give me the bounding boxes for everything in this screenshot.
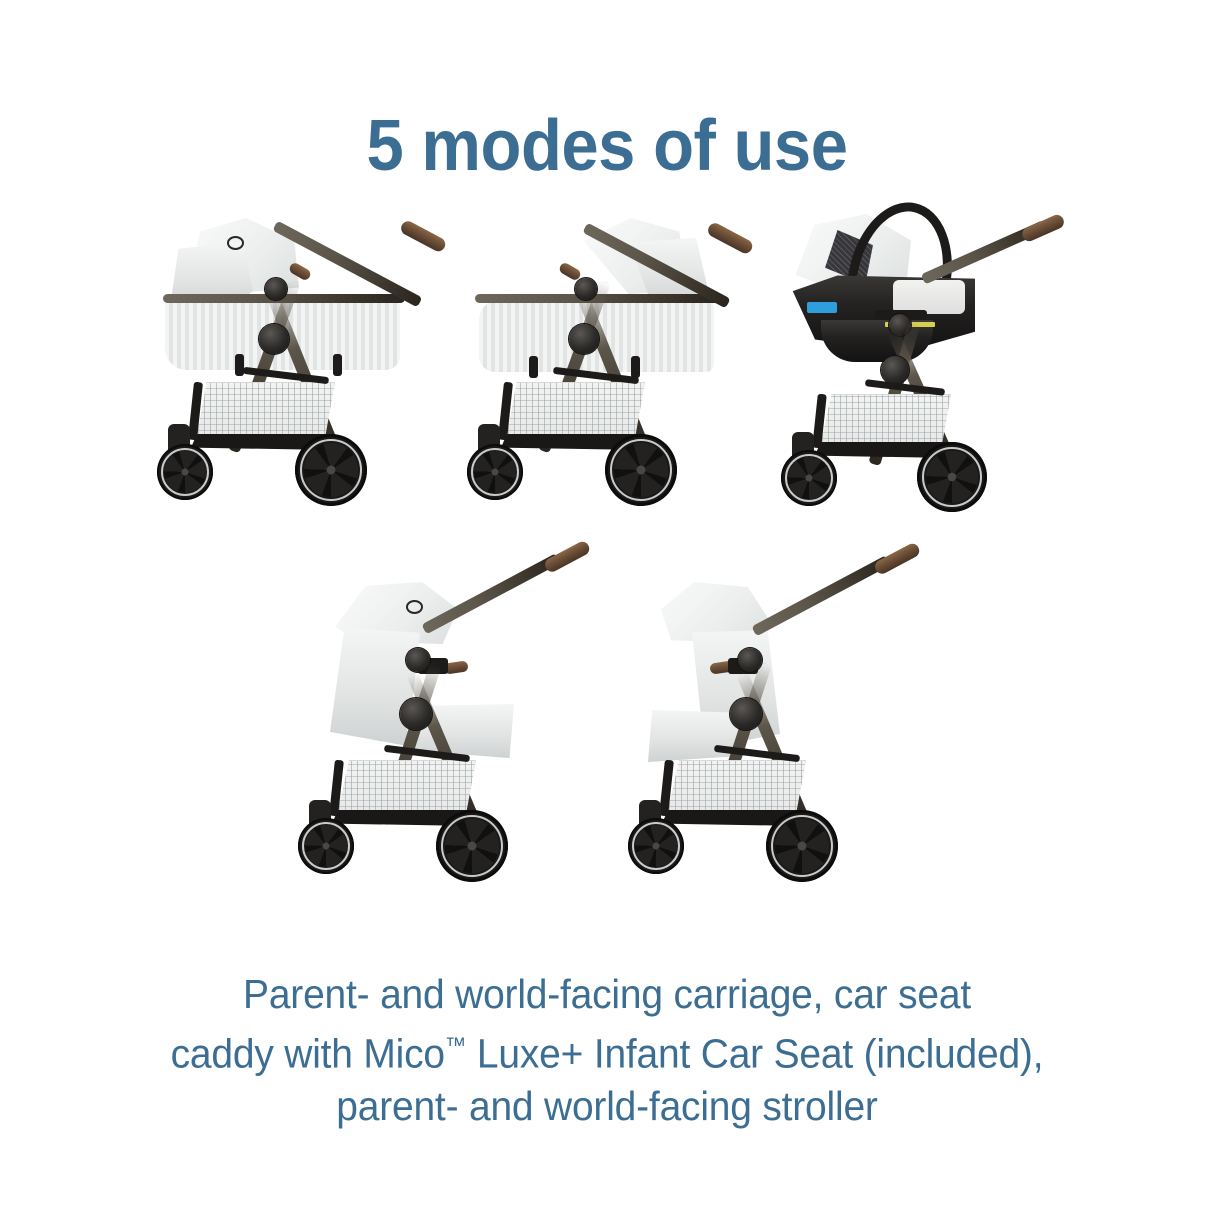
rear-axle	[865, 379, 945, 396]
frame-hinge	[881, 356, 909, 384]
front-wheel	[467, 444, 523, 500]
stroller-illustration-5	[614, 564, 924, 920]
mode-image-world-facing-carriage[interactable]	[457, 196, 757, 552]
mode-image-parent-facing-stroller[interactable]	[290, 564, 600, 920]
frame-joint	[575, 278, 597, 300]
frame-hinge	[569, 324, 599, 354]
bassinet-clip	[333, 354, 342, 376]
car-seat-insert-pad	[893, 280, 965, 314]
frame-hinge	[259, 324, 289, 354]
page-title: 5 modes of use	[42, 110, 1171, 182]
frame-joint	[265, 278, 287, 300]
front-wheel	[781, 450, 837, 506]
bassinet-clip	[529, 356, 538, 378]
bassinet-clip	[631, 356, 640, 378]
stroller-illustration-4	[290, 564, 600, 920]
brand-logo-icon	[406, 600, 423, 614]
bumper-bar-grip	[558, 261, 583, 282]
rear-wheel	[605, 434, 677, 506]
front-wheel	[628, 818, 684, 874]
front-wheel	[298, 818, 354, 874]
handlebar	[751, 555, 890, 636]
caption-block: Parent- and world-facing carriage, car s…	[30, 968, 1183, 1132]
brand-logo-icon	[227, 236, 244, 250]
handlebar-grip	[1020, 213, 1066, 244]
rear-wheel	[436, 810, 508, 882]
handlebar	[421, 553, 560, 634]
car-seat-blue-label	[807, 302, 837, 313]
product-feature-graphic: 5 modes of use	[0, 0, 1214, 1214]
mode-image-parent-facing-carriage[interactable]	[147, 196, 447, 552]
rear-wheel	[917, 442, 987, 512]
caption-line-2-b: Luxe+ Infant Car Seat (included),	[466, 1031, 1043, 1077]
rear-wheel	[295, 434, 367, 506]
handlebar-grip	[706, 221, 755, 256]
frame-hinge	[400, 698, 432, 730]
gallery-row-top	[0, 196, 1214, 556]
caption-line-1: Parent- and world-facing carriage, car s…	[30, 968, 1183, 1020]
frame-hinge	[730, 698, 762, 730]
stroller-illustration-2	[457, 196, 757, 552]
caption-line-3: parent- and world-facing stroller	[30, 1080, 1183, 1132]
front-wheel	[157, 444, 213, 500]
handlebar-grip	[399, 219, 448, 254]
stroller-illustration-3	[767, 196, 1067, 552]
caption-line-2: caddy with Mico™ Luxe+ Infant Car Seat (…	[30, 1020, 1183, 1080]
trademark-symbol: ™	[445, 1033, 466, 1058]
mode-image-car-seat-caddy[interactable]	[767, 196, 1067, 552]
caption-line-2-a: caddy with Mico	[171, 1031, 445, 1077]
gallery-row-bottom	[0, 564, 1214, 920]
rear-wheel	[766, 810, 838, 882]
mode-image-world-facing-stroller[interactable]	[614, 564, 924, 920]
modes-gallery	[0, 196, 1214, 936]
seat-recline-joint	[406, 648, 430, 672]
stroller-illustration-1	[147, 196, 447, 552]
